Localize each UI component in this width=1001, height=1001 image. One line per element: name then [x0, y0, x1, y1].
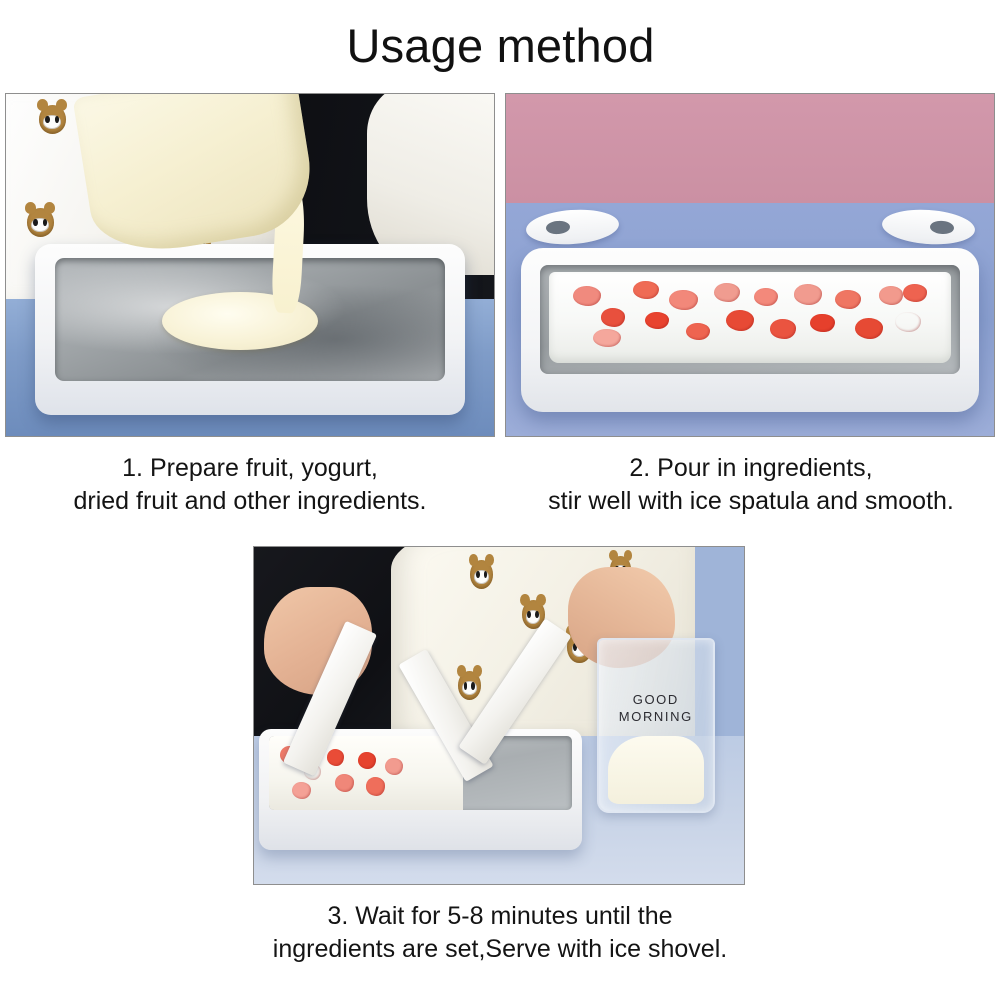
cup-label: GOOD MORNING — [599, 691, 713, 725]
strawberry-piece — [903, 284, 927, 301]
step-1-photo — [5, 93, 495, 437]
strawberry-piece — [335, 774, 354, 792]
bear-print-icon — [27, 208, 54, 237]
strawberry-piece — [669, 290, 697, 310]
glass-cup: GOOD MORNING — [597, 638, 715, 813]
strawberry-piece — [770, 319, 796, 338]
yogurt-layer — [549, 272, 952, 364]
strawberry-piece — [879, 286, 903, 304]
infographic-page: Usage method — [0, 0, 1001, 1001]
bear-print-icon — [470, 560, 493, 589]
step-2-caption: 2. Pour in ingredients, stir well with i… — [501, 452, 1001, 518]
strawberry-piece — [726, 310, 754, 331]
strawberry-piece — [358, 752, 375, 769]
strawberry-piece — [686, 323, 710, 340]
strawberry-piece — [835, 290, 861, 309]
strawberry-piece — [714, 283, 740, 302]
strawberry-piece — [601, 308, 625, 326]
strawberry-piece — [385, 758, 402, 775]
bear-print-icon — [458, 671, 481, 700]
strawberry-piece — [754, 288, 778, 306]
strawberry-piece — [895, 312, 921, 332]
strawberry-piece — [366, 777, 385, 796]
pink-wall — [506, 94, 994, 203]
strawberry-piece — [593, 329, 621, 347]
step-2-photo — [505, 93, 995, 437]
step-3-photo: GOOD MORNING — [253, 546, 745, 885]
step-3-caption: 3. Wait for 5-8 minutes until the ingred… — [150, 900, 850, 966]
strawberry-piece — [292, 782, 311, 800]
strawberry-piece — [573, 286, 601, 306]
step-1-caption: 1. Prepare fruit, yogurt, dried fruit an… — [0, 452, 500, 518]
strawberry-piece — [855, 318, 883, 339]
frozen-pan — [540, 265, 960, 374]
strawberry-piece — [327, 749, 344, 766]
bear-print-icon — [39, 105, 66, 134]
strawberry-piece — [645, 312, 669, 329]
strawberry-piece — [633, 281, 659, 299]
ice-cream-in-cup — [608, 736, 703, 804]
page-title: Usage method — [0, 17, 1001, 75]
strawberry-piece — [794, 284, 822, 304]
strawberry-piece — [810, 314, 834, 332]
